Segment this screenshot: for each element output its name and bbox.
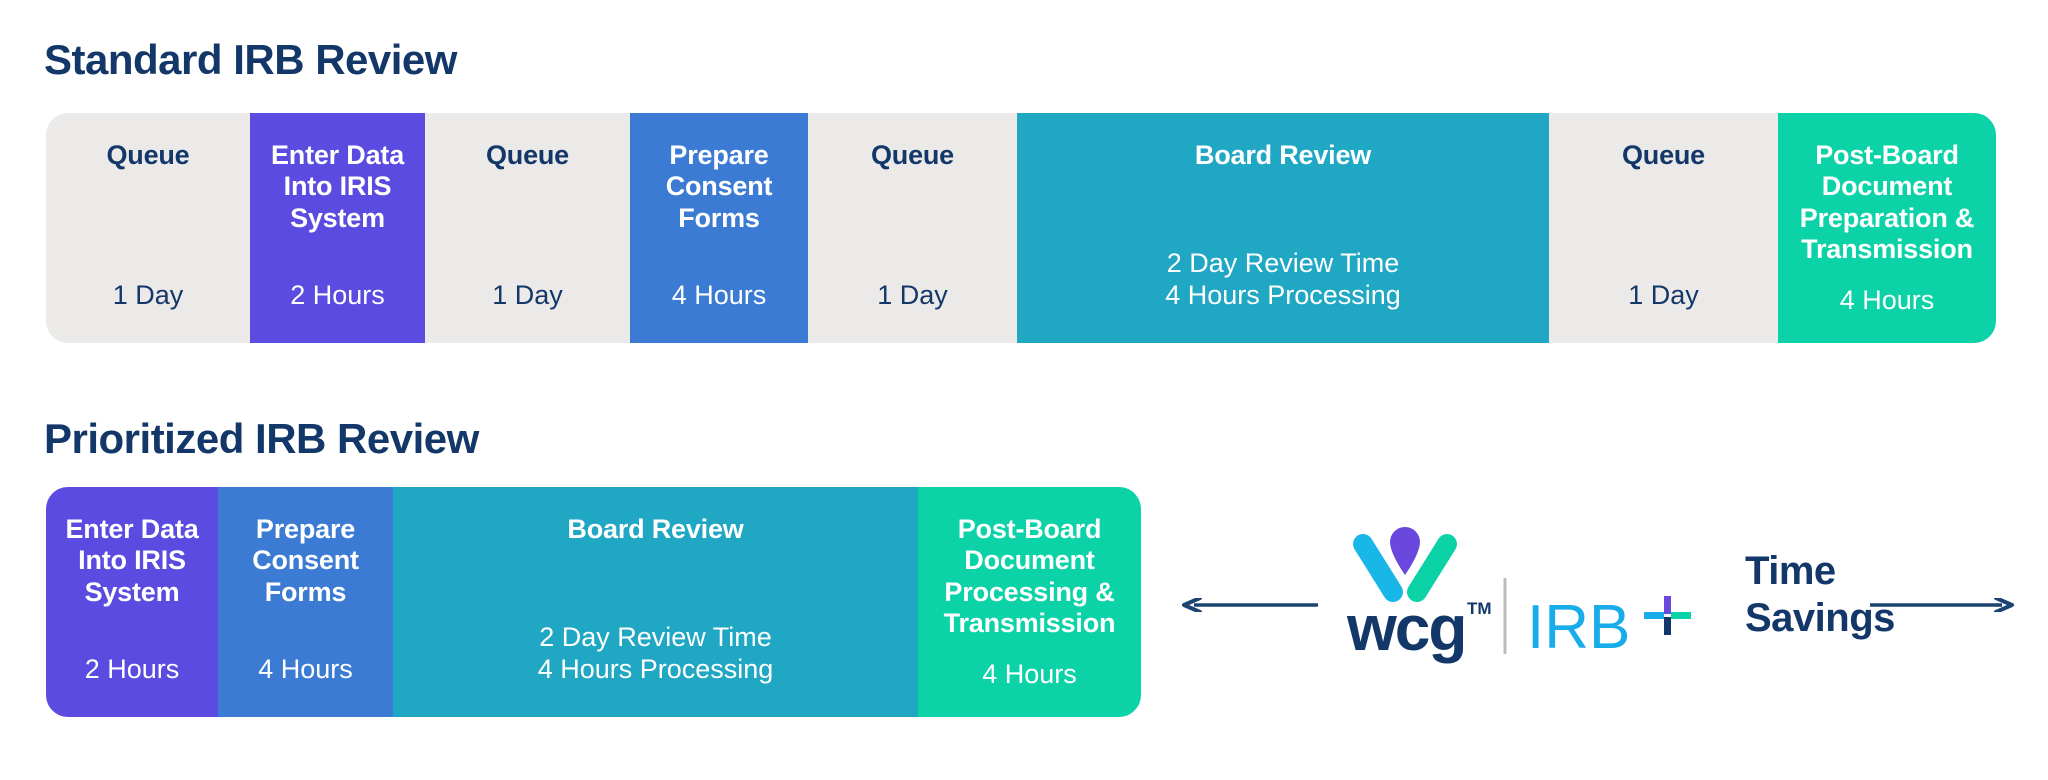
trademark-symbol: TM <box>1467 599 1492 618</box>
right-arrow-icon <box>1870 598 2018 612</box>
segment-duration: 1 Day <box>1549 280 1778 311</box>
segment-label: Board Review <box>559 514 751 545</box>
timeline-segment: Enter Data Into IRIS System2 Hours <box>250 113 425 343</box>
segment-duration: 2 Day Review Time 4 Hours Processing <box>1017 248 1549 311</box>
timeline-prioritized-review: Enter Data Into IRIS System2 HoursPrepar… <box>46 487 1141 717</box>
time-savings-label: Time Savings <box>1745 548 1865 642</box>
irb-plus-icon <box>1644 596 1691 635</box>
left-arrow-icon <box>1178 598 1318 612</box>
timeline-segment: Queue1 Day <box>425 113 630 343</box>
timeline-segment: Prepare Consent Forms4 Hours <box>630 113 808 343</box>
page-title-prioritized: Prioritized IRB Review <box>44 415 479 463</box>
timeline-segment: Board Review2 Day Review Time 4 Hours Pr… <box>1017 113 1549 343</box>
segment-duration: 4 Hours <box>1778 285 1996 316</box>
timeline-segment: Prepare Consent Forms4 Hours <box>218 487 393 717</box>
wcg-irb-plus-logo: wcg TM IRB <box>1345 522 1715 682</box>
segment-duration: 2 Hours <box>250 280 425 311</box>
segment-label: Enter Data Into IRIS System <box>57 514 206 608</box>
segment-label: Queue <box>863 140 962 171</box>
segment-duration: 1 Day <box>46 280 250 311</box>
segment-label: Queue <box>98 140 197 171</box>
page-title-standard: Standard IRB Review <box>44 36 457 84</box>
segment-label: Post-Board Document Processing & Transmi… <box>936 514 1124 639</box>
timeline-segment: Queue1 Day <box>46 113 250 343</box>
segment-label: Board Review <box>1187 140 1379 171</box>
time-savings-comparison: wcg TM IRB Time Savings <box>1170 500 2030 700</box>
timeline-segment: Post-Board Document Processing & Transmi… <box>918 487 1141 717</box>
timeline-segment: Enter Data Into IRIS System2 Hours <box>46 487 218 717</box>
timeline-segment: Queue1 Day <box>1549 113 1778 343</box>
irb-wordmark: IRB <box>1527 593 1630 662</box>
segment-label: Prepare Consent Forms <box>244 514 367 608</box>
timeline-segment: Post-Board Document Preparation & Transm… <box>1778 113 1996 343</box>
segment-label: Queue <box>1614 140 1713 171</box>
segment-duration: 4 Hours <box>218 654 393 685</box>
segment-duration: 4 Hours <box>630 280 808 311</box>
segment-duration: 4 Hours <box>918 659 1141 690</box>
timeline-segment: Queue1 Day <box>808 113 1017 343</box>
timeline-standard-review: Queue1 DayEnter Data Into IRIS System2 H… <box>46 113 1996 343</box>
segment-label: Enter Data Into IRIS System <box>263 140 412 234</box>
segment-label: Queue <box>478 140 577 171</box>
wcg-wordmark: wcg <box>1346 592 1465 664</box>
segment-label: Post-Board Document Preparation & Transm… <box>1792 140 1982 265</box>
segment-duration: 2 Hours <box>46 654 218 685</box>
timeline-segment: Board Review2 Day Review Time 4 Hours Pr… <box>393 487 918 717</box>
segment-label: Prepare Consent Forms <box>658 140 781 234</box>
segment-duration: 2 Day Review Time 4 Hours Processing <box>393 622 918 685</box>
wcg-w-mark <box>1363 527 1447 592</box>
segment-duration: 1 Day <box>808 280 1017 311</box>
segment-duration: 1 Day <box>425 280 630 311</box>
